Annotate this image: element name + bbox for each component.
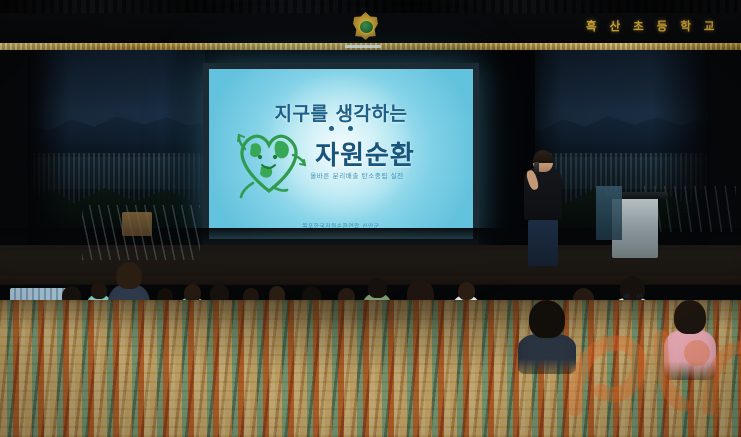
audience-member — [664, 300, 716, 380]
photo-scene: 흑 산 초 등 학 교 — [0, 0, 741, 437]
audience-head — [116, 262, 142, 289]
audience-head — [529, 300, 565, 338]
audience-torso — [518, 334, 576, 374]
slide-title-line2: 자원순환 — [261, 135, 469, 172]
projection-screen: 지구를 생각하는 자원순환 올바른 분리배출 탄소중립 실천 목포한국자원순환연… — [209, 69, 473, 239]
audience-torso — [664, 330, 716, 380]
floor-mat-shading — [0, 300, 741, 437]
microphone-icon — [534, 162, 539, 174]
slide-title-line1: 지구를 생각하는 — [209, 99, 473, 126]
slide-decor-dots — [329, 126, 353, 131]
audience-head — [91, 282, 107, 299]
rail-name-plate — [345, 45, 381, 48]
audience-head — [458, 282, 475, 300]
school-emblem-icon — [352, 12, 379, 40]
presenter-legs — [528, 218, 558, 266]
audience-head — [674, 300, 706, 334]
projection-screen-frame: 지구를 생각하는 자원순환 올바른 분리배출 탄소중립 실천 목포한국자원순환연… — [203, 63, 479, 245]
school-name-banner: 흑 산 초 등 학 교 — [586, 18, 719, 34]
audience-head — [368, 278, 387, 298]
podium-side-panel — [596, 186, 622, 240]
slide-subtitle: 올바른 분리배출 탄소중립 실천 — [249, 170, 465, 180]
audience-member — [518, 300, 576, 374]
cardboard-box — [122, 212, 152, 236]
